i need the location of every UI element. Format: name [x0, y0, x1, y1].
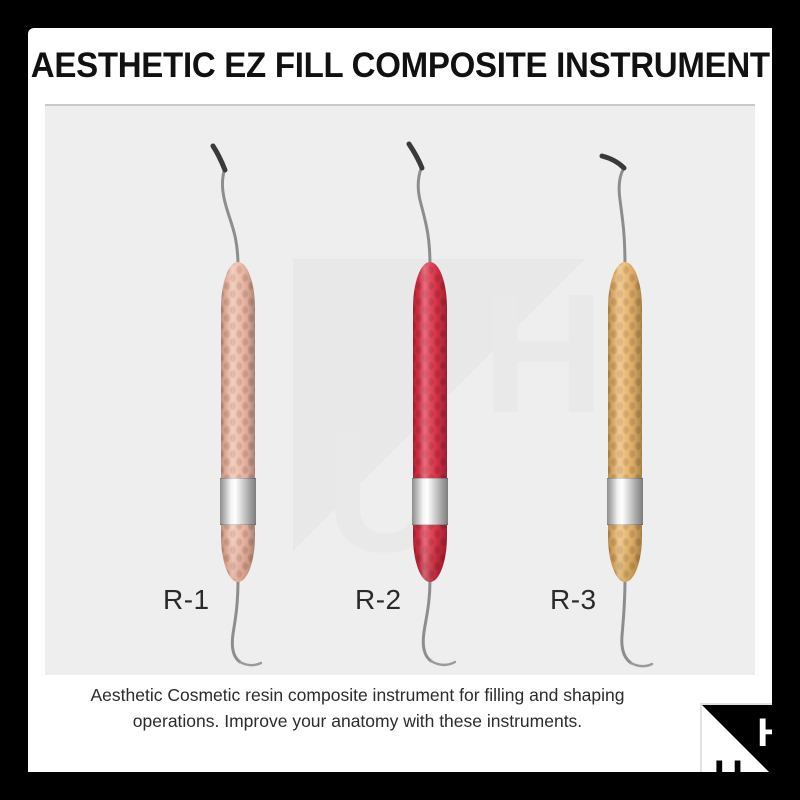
brand-logo: H U: [700, 703, 772, 772]
instrument-handle-r-1: [221, 262, 255, 582]
handle-shading: [413, 262, 447, 582]
instrument-r-1: R-1: [163, 106, 313, 675]
handle-shading: [221, 262, 255, 582]
title-bar: AESTHETIC EZ FILL COMPOSITE INSTRUMENT: [28, 28, 772, 103]
instrument-metal-collar-r-3: [607, 478, 643, 525]
handle-shading: [608, 262, 642, 582]
product-image-card: AESTHETIC EZ FILL COMPOSITE INSTRUMENT H…: [0, 0, 800, 800]
inner-sheet: AESTHETIC EZ FILL COMPOSITE INSTRUMENT H…: [28, 28, 772, 772]
instrument-handle-r-3: [608, 262, 642, 582]
page-title: AESTHETIC EZ FILL COMPOSITE INSTRUMENT: [31, 45, 770, 86]
instrument-handle-r-2: [413, 262, 447, 582]
logo-letter-u: U: [714, 755, 743, 772]
instrument-label-r-2: R-2: [355, 584, 505, 616]
product-description: Aesthetic Cosmetic resin composite instr…: [45, 683, 670, 735]
instrument-label-r-1: R-1: [163, 584, 313, 616]
instrument-metal-collar-r-1: [220, 478, 256, 525]
instrument-label-r-3: R-3: [550, 584, 700, 616]
product-photo-panel: H U R-1: [45, 104, 755, 675]
instrument-metal-collar-r-2: [412, 478, 448, 525]
instrument-r-3: R-3: [550, 106, 700, 675]
instrument-r-2: R-2: [355, 106, 505, 675]
logo-letter-h: H: [757, 713, 772, 753]
